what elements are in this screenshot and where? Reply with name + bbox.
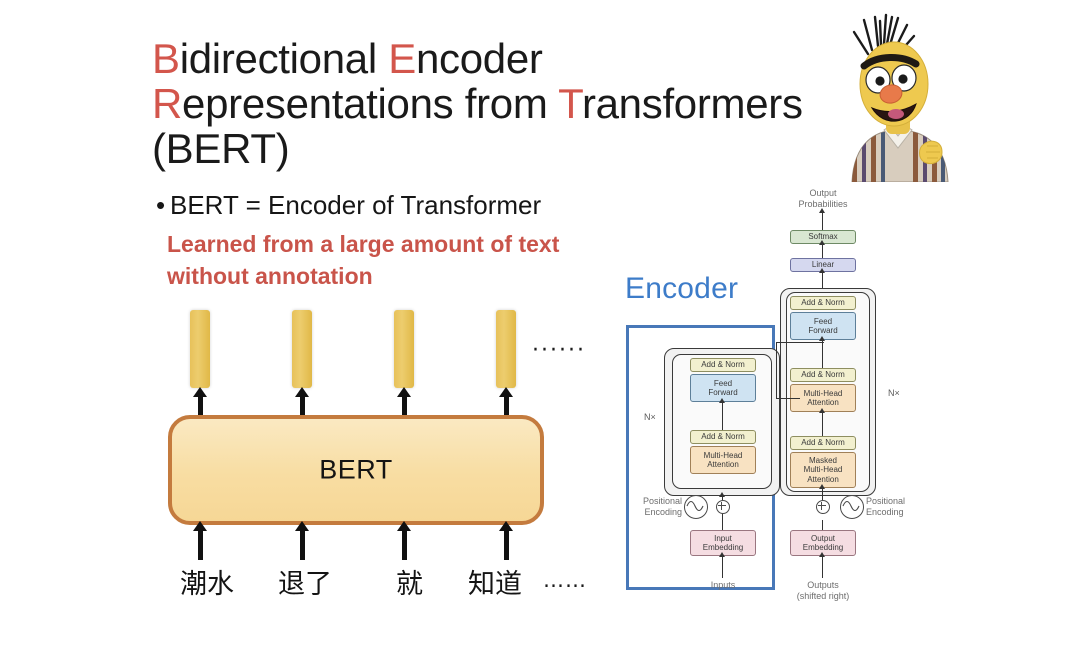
- input-token: 就: [396, 562, 423, 601]
- encoder-feed-forward-label: Feed Forward: [708, 379, 737, 398]
- encoder-callout-label: Encoder: [625, 272, 738, 306]
- page-title: Bidirectional Encoder Representations fr…: [152, 36, 852, 171]
- output-vector-bar: [394, 310, 414, 388]
- title-rest-1b: ncoder: [416, 35, 543, 82]
- encoder-multi-head-attention-label: Multi-Head Attention: [704, 451, 743, 470]
- decoder-output-probabilities-label: Output Probabilities: [782, 188, 864, 210]
- decoder-arrow-icon: [819, 336, 825, 341]
- title-line-3: (BERT): [152, 126, 852, 171]
- bullet-marker-icon: •: [156, 190, 170, 221]
- title-cap-e: E: [388, 35, 416, 82]
- decoder-positional-encoding-label: Positional Encoding: [866, 496, 946, 518]
- decoder-connector: [822, 556, 823, 578]
- encoder-inputs-label: Inputs: [690, 580, 756, 591]
- decoder-connector: [822, 244, 823, 258]
- title-cap-b: B: [152, 35, 180, 82]
- encoder-connector: [722, 520, 723, 530]
- bert-model-box: BERT: [168, 415, 544, 525]
- decoder-masked-multi-head-attention: Masked Multi-Head Attention: [790, 452, 856, 488]
- decoder-output-embedding-label: Output Embedding: [803, 534, 843, 553]
- decoder-arrow-icon: [819, 408, 825, 413]
- encoder-positional-encoding-label: Positional Encoding: [616, 496, 682, 518]
- cross-attention-connector: [776, 342, 777, 398]
- input-arrow-icon: [198, 530, 203, 560]
- input-token: 知道: [468, 562, 522, 601]
- title-rest-3: (BERT): [152, 125, 289, 172]
- output-vector-bar: [190, 310, 210, 388]
- title-cap-r: R: [152, 80, 182, 127]
- encoder-add-norm-1: Add & Norm: [690, 430, 756, 444]
- input-arrow-icon: [504, 530, 509, 560]
- decoder-connector: [822, 340, 823, 368]
- encoder-arrow-icon: [719, 492, 725, 497]
- decoder-connector: [822, 412, 823, 436]
- decoder-arrow-icon: [819, 552, 825, 557]
- decoder-sine-icon: [840, 495, 864, 519]
- input-arrow-icon: [300, 530, 305, 560]
- title-rest-2b: ransformers: [582, 80, 803, 127]
- decoder-arrow-icon: [819, 268, 825, 273]
- encoder-sine-icon: [684, 495, 708, 519]
- output-vector-bar: [496, 310, 516, 388]
- decoder-feed-forward-label: Feed Forward: [808, 317, 837, 336]
- decoder-connector: [822, 272, 823, 288]
- decoder-masked-multi-head-attention-label: Masked Multi-Head Attention: [804, 456, 843, 485]
- decoder-add-norm-3: Add & Norm: [790, 296, 856, 310]
- decoder-connector: [822, 520, 823, 530]
- input-token: 潮水: [180, 562, 234, 601]
- decoder-nx-label: N×: [888, 388, 900, 398]
- title-rest-1: idirectional: [180, 35, 389, 82]
- bert-model-label: BERT: [172, 455, 540, 486]
- decoder-add-positional-icon: [816, 500, 830, 514]
- title-line-1: Bidirectional Encoder: [152, 36, 852, 81]
- title-rest-2: epresentations from: [182, 80, 558, 127]
- decoder-arrow-icon: [819, 208, 825, 213]
- output-ellipsis: ······: [532, 338, 586, 363]
- bullet-text: BERT = Encoder of Transformer: [170, 190, 541, 220]
- decoder-multi-head-attention-label: Multi-Head Attention: [804, 389, 843, 408]
- input-token-ellipsis: ……: [543, 568, 587, 592]
- input-arrow-icon: [402, 530, 407, 560]
- title-line-2: Representations from Transformers: [152, 81, 852, 126]
- transformer-architecture-figure: Encoder Add & Norm Feed Forward Add & No…: [600, 180, 970, 610]
- output-vector-bar: [292, 310, 312, 388]
- input-token: 退了: [278, 562, 332, 601]
- encoder-connector: [722, 556, 723, 578]
- encoder-add-positional-icon: [716, 500, 730, 514]
- decoder-add-norm-2: Add & Norm: [790, 368, 856, 382]
- slide-canvas: Bidirectional Encoder Representations fr…: [0, 0, 1090, 654]
- note-text: Learned from a large amount of text with…: [167, 228, 637, 292]
- decoder-arrow-icon: [819, 484, 825, 489]
- title-cap-t: T: [558, 80, 582, 127]
- bert-character-icon: [828, 12, 968, 182]
- encoder-nx-label: N×: [644, 412, 656, 422]
- bert-block-diagram: ······ BERT 潮水 退了 就 知道 ……: [150, 300, 610, 600]
- encoder-arrow-icon: [719, 552, 725, 557]
- decoder-outputs-label: Outputs (shifted right): [782, 580, 864, 602]
- sine-wave-icon: [685, 496, 705, 516]
- encoder-add-norm-2: Add & Norm: [690, 358, 756, 372]
- cross-attention-connector: [776, 398, 800, 399]
- encoder-multi-head-attention: Multi-Head Attention: [690, 446, 756, 474]
- decoder-add-norm-1: Add & Norm: [790, 436, 856, 450]
- encoder-input-embedding-label: Input Embedding: [703, 534, 743, 553]
- bullet-item: •BERT = Encoder of Transformer: [156, 190, 541, 221]
- decoder-arrow-icon: [819, 240, 825, 245]
- bert-puppet-image: [828, 12, 968, 182]
- sine-wave-icon: [841, 496, 861, 516]
- decoder-connector: [822, 212, 823, 230]
- encoder-arrow-icon: [719, 398, 725, 403]
- cross-attention-connector: [776, 342, 824, 343]
- encoder-connector: [722, 402, 723, 430]
